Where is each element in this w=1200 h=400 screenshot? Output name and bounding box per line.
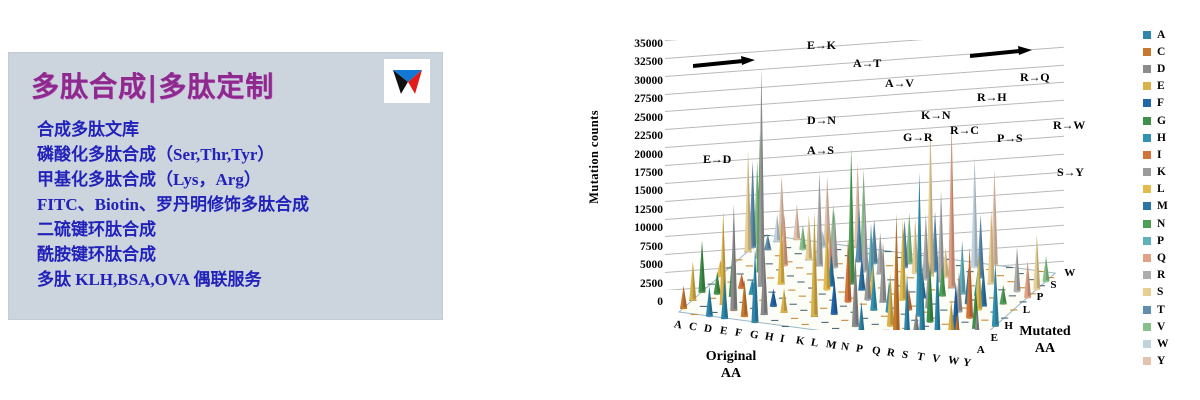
legend-label: F [1157, 97, 1164, 109]
data-annotation: G→R [903, 130, 932, 145]
legend-swatch [1143, 168, 1151, 176]
list-item: 酰胺键环肽合成 [37, 242, 432, 267]
legend-swatch [1143, 151, 1151, 159]
y-axis-tick: 2500 [640, 279, 663, 290]
legend-label: V [1157, 321, 1165, 333]
spike [764, 234, 771, 250]
spike [770, 289, 777, 307]
y-axis-tick: 30000 [634, 76, 663, 87]
legend-item[interactable]: K [1143, 164, 1195, 181]
spike [816, 172, 823, 267]
y-axis-tick: 20000 [634, 150, 663, 161]
screenshot-root: 多肽合成|多肽定制 合成多肽文库 磷酸化多肽合成（Ser,Thr,Tyr） 甲基… [0, 0, 1200, 400]
company-chevron-logo [384, 59, 430, 103]
legend: ACDEFGHIKLMNPQRSTVWY [1143, 26, 1195, 370]
legend-item[interactable]: G [1143, 112, 1195, 129]
legend-item[interactable]: I [1143, 146, 1195, 163]
legend-label: K [1157, 166, 1166, 178]
legend-label: L [1157, 183, 1165, 195]
y-axis-ticks: 3500032500300002750025000225002000017500… [603, 44, 663, 302]
list-item: 磷酸化多肽合成（Ser,Thr,Tyr） [37, 142, 432, 167]
legend-item[interactable]: N [1143, 215, 1195, 232]
legend-label: N [1157, 218, 1165, 230]
legend-swatch [1143, 134, 1151, 142]
legend-label: H [1157, 132, 1166, 144]
list-item: FITC、Biotin、罗丹明修饰多肽合成 [37, 192, 432, 217]
data-annotation: A→S [807, 143, 834, 158]
original-aa-tick: R [886, 346, 896, 359]
data-annotation: R→Q [1020, 70, 1049, 85]
spike [971, 156, 978, 268]
original-aa-tick: D [703, 322, 713, 335]
spike [706, 286, 713, 317]
legend-swatch [1143, 185, 1151, 193]
legend-swatch [1143, 117, 1151, 125]
data-annotation: A→V [885, 76, 914, 91]
y-axis-tick: 27500 [634, 94, 663, 105]
y-axis-tick: 32500 [634, 57, 663, 68]
y-axis-tick: 12500 [634, 205, 663, 216]
legend-swatch [1143, 357, 1151, 365]
legend-item[interactable]: V [1143, 318, 1195, 335]
legend-label: E [1157, 80, 1165, 92]
mutated-aa-tick: A [977, 344, 985, 356]
legend-item[interactable]: A [1143, 26, 1195, 43]
data-annotation: R→H [977, 90, 1006, 105]
spike [1043, 256, 1050, 282]
spike [781, 288, 788, 313]
spike [948, 124, 955, 289]
y-axis-tick: 25000 [634, 113, 663, 124]
legend-swatch [1143, 271, 1151, 279]
mutated-aa-tick: L [1023, 304, 1030, 316]
data-annotation: A→T [853, 56, 881, 71]
legend-swatch [1143, 31, 1151, 39]
y-axis-tick: 0 [657, 297, 663, 308]
x-axis-title: Original AA [691, 348, 771, 382]
original-aa-tick: F [734, 326, 743, 339]
left-trend-arrow [693, 56, 755, 77]
legend-label: C [1157, 46, 1165, 58]
legend-label: Y [1157, 355, 1165, 367]
mutated-aa-tick: E [991, 332, 998, 344]
original-aa-tick: K [795, 334, 806, 347]
chevron-logo-icon [389, 64, 425, 98]
spike [805, 215, 812, 261]
legend-item[interactable]: T [1143, 301, 1195, 318]
y-axis-tick: 15000 [634, 186, 663, 197]
spike [938, 191, 945, 283]
legend-item[interactable]: S [1143, 284, 1195, 301]
legend-swatch [1143, 65, 1151, 73]
mutated-aa-tick: W [1064, 267, 1075, 279]
spike [893, 213, 900, 330]
y-axis-tick: 5000 [640, 260, 663, 271]
y-axis-tick: 22500 [634, 131, 663, 142]
service-list: 合成多肽文库 磷酸化多肽合成（Ser,Thr,Tyr） 甲基化多肽合成（Lys，… [37, 117, 432, 292]
legend-swatch [1143, 323, 1151, 331]
original-aa-tick: L [810, 336, 819, 349]
legend-item[interactable]: R [1143, 267, 1195, 284]
legend-item[interactable]: E [1143, 78, 1195, 95]
spike [793, 204, 800, 240]
data-annotation: S→Y [1057, 165, 1084, 180]
y-axis-tick: 10000 [634, 223, 663, 234]
legend-swatch [1143, 202, 1151, 210]
spike-series [665, 40, 1065, 330]
legend-label: I [1157, 149, 1161, 161]
legend-label: S [1157, 286, 1163, 298]
original-aa-tick: Q [871, 344, 882, 357]
spike [689, 261, 696, 301]
legend-item[interactable]: Y [1143, 353, 1195, 370]
y-axis-tick: 35000 [634, 39, 663, 50]
legend-item[interactable]: H [1143, 129, 1195, 146]
legend-swatch [1143, 99, 1151, 107]
list-item: 二硫键环肽合成 [37, 217, 432, 242]
spike [730, 204, 737, 311]
data-annotation: R→C [950, 123, 979, 138]
original-aa-tick: N [840, 340, 850, 353]
data-annotation: D→N [807, 113, 836, 128]
legend-label: M [1157, 200, 1168, 212]
y-axis-tick: 7500 [640, 242, 663, 253]
promo-panel: 多肽合成|多肽定制 合成多肽文库 磷酸化多肽合成（Ser,Thr,Tyr） 甲基… [8, 52, 443, 320]
page-title: 多肽合成|多肽定制 [31, 65, 274, 105]
legend-label: G [1157, 115, 1166, 127]
legend-swatch [1143, 82, 1151, 90]
legend-swatch [1143, 306, 1151, 314]
legend-label: T [1157, 304, 1165, 316]
original-aa-tick: E [719, 324, 728, 337]
legend-swatch [1143, 254, 1151, 262]
legend-swatch [1143, 48, 1151, 56]
legend-label: D [1157, 63, 1165, 75]
original-aa-tick: W [947, 354, 960, 368]
spike [680, 286, 687, 309]
y-axis-tick: 17500 [634, 168, 663, 179]
plot-area [665, 40, 1065, 330]
original-aa-tick: P [855, 342, 864, 355]
list-item: 多肽 KLH,BSA,OVA 偶联服务 [37, 267, 432, 292]
spike [1014, 247, 1021, 293]
original-aa-tick: G [749, 328, 760, 341]
mutation-counts-3d-chart: Mutation counts 350003250030000275002500… [585, 18, 1195, 390]
legend-label: A [1157, 29, 1165, 41]
legend-label: P [1157, 235, 1164, 247]
original-aa-tick: I [779, 333, 785, 346]
legend-swatch [1143, 340, 1151, 348]
original-aa-tick: V [931, 352, 941, 365]
original-aa-tick: T [916, 350, 925, 363]
legend-item[interactable]: P [1143, 232, 1195, 249]
original-aa-tick: S [901, 349, 909, 362]
mutated-aa-tick: S [1050, 279, 1056, 291]
original-aa-tick: C [688, 320, 698, 333]
original-aa-tick: M [825, 338, 837, 352]
right-trend-arrow [970, 46, 1032, 67]
legend-item[interactable]: M [1143, 198, 1195, 215]
spike [745, 150, 752, 253]
spike [1000, 285, 1007, 305]
legend-item[interactable]: F [1143, 95, 1195, 112]
data-annotation: R→W [1053, 118, 1085, 133]
list-item: 合成多肽文库 [37, 117, 432, 142]
legend-label: R [1157, 269, 1165, 281]
mutated-aa-tick: P [1037, 291, 1044, 303]
legend-item[interactable]: Q [1143, 249, 1195, 266]
data-annotation: E→D [703, 152, 731, 167]
data-annotation: K→N [921, 108, 950, 123]
legend-item[interactable]: L [1143, 181, 1195, 198]
spike [1024, 261, 1031, 299]
legend-label: Q [1157, 252, 1166, 264]
z-axis-title: Mutated AA [1005, 323, 1085, 357]
data-annotation: P→S [997, 131, 1022, 146]
spike [699, 240, 706, 293]
data-annotation: E→K [807, 38, 836, 53]
legend-swatch [1143, 288, 1151, 296]
legend-label: W [1157, 338, 1169, 350]
legend-swatch [1143, 237, 1151, 245]
original-aa-tick: H [764, 330, 775, 343]
spike [927, 125, 934, 276]
list-item: 甲基化多肽合成（Lys，Arg） [37, 167, 432, 192]
spike [1033, 234, 1040, 290]
legend-item[interactable]: C [1143, 43, 1195, 60]
legend-item[interactable]: W [1143, 335, 1195, 352]
legend-item[interactable]: D [1143, 60, 1195, 77]
spike [799, 225, 806, 251]
legend-swatch [1143, 220, 1151, 228]
original-aa-tick: Y [962, 356, 972, 369]
spike [858, 302, 865, 330]
